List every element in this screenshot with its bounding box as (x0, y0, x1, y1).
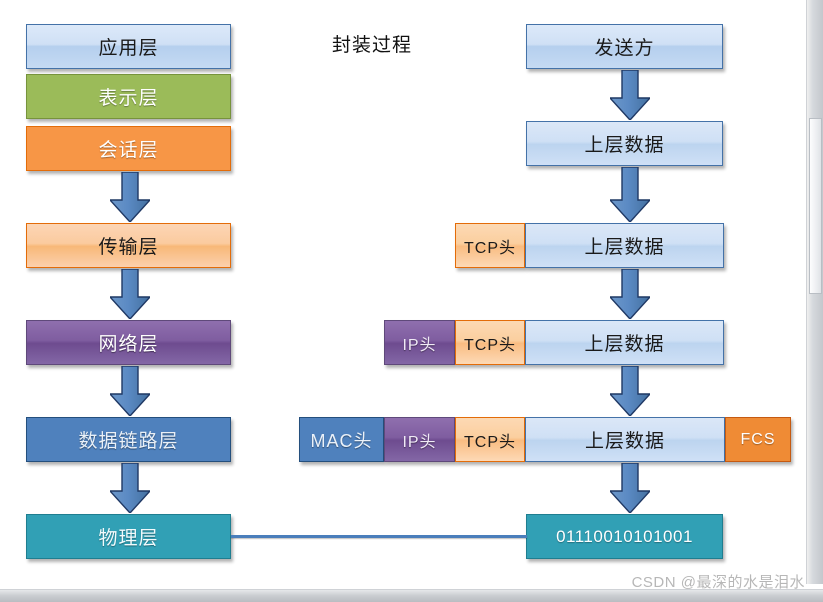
encap-packet-upper-layer-data-label: 上层数据 (584, 329, 664, 356)
encap-segment-upper-layer-data: 上层数据 (525, 223, 724, 268)
encap-packet-tcp-header-label: TCP头 (464, 331, 516, 355)
arrow-transport-to-network-icon (110, 269, 150, 319)
osi-layer-session: 会话层 (26, 126, 231, 171)
osi-layer-session-label: 会话层 (98, 135, 158, 162)
arrow-data-to-segment-icon (610, 167, 650, 222)
arrow-frame-to-bits-icon (610, 463, 650, 513)
osi-layer-data-link: 数据链路层 (26, 417, 231, 462)
encap-frame-ip-header: IP头 (384, 417, 455, 462)
encap-frame-mac-header: MAC头 (299, 417, 384, 462)
osi-layer-application: 应用层 (26, 24, 231, 69)
osi-layer-presentation: 表示层 (26, 74, 231, 119)
encap-segment-tcp-header: TCP头 (455, 223, 525, 268)
encap-upper-layer-data-upper-layer-data-label: 上层数据 (584, 130, 664, 157)
diagram-title: 封装过程 (332, 30, 412, 57)
encap-frame-upper-layer-data-label: 上层数据 (585, 426, 665, 453)
arrow-link-to-physical-icon (110, 463, 150, 513)
arrow-session-to-transport-icon (110, 172, 150, 222)
encap-frame-fcs: FCS (725, 417, 791, 462)
osi-layer-transport: 传输层 (26, 223, 231, 268)
encap-upper-layer-data-upper-layer-data: 上层数据 (526, 121, 723, 166)
encap-frame-tcp-header-label: TCP头 (464, 428, 516, 452)
encap-frame-tcp-header: TCP头 (455, 417, 525, 462)
arrow-sender-to-data-icon (610, 70, 650, 120)
osi-layer-data-link-label: 数据链路层 (78, 426, 178, 453)
physical-medium-line (231, 535, 527, 538)
osi-layer-transport-label: 传输层 (98, 232, 158, 259)
encap-bits-bit-stream: 01110010101001 (526, 514, 723, 559)
encap-bits-bit-stream-label: 01110010101001 (556, 527, 693, 547)
encap-sender-sender: 发送方 (526, 24, 723, 69)
encap-packet-ip-header: IP头 (384, 320, 455, 365)
encap-packet-ip-header-label: IP头 (402, 331, 436, 355)
encap-sender-sender-label: 发送方 (594, 33, 654, 60)
osi-layer-network: 网络层 (26, 320, 231, 365)
arrow-segment-to-packet-icon (610, 269, 650, 319)
diagram-canvas: 封装过程 应用层表示层会话层传输层网络层数据链路层物理层 发送方上层数据TCP头… (0, 0, 823, 602)
encap-frame-upper-layer-data: 上层数据 (525, 417, 725, 462)
encap-frame-ip-header-label: IP头 (402, 428, 436, 452)
vertical-scrollbar[interactable] (806, 0, 823, 584)
encap-packet-upper-layer-data: 上层数据 (525, 320, 724, 365)
encap-segment-upper-layer-data-label: 上层数据 (584, 232, 664, 259)
arrow-packet-to-frame-icon (610, 366, 650, 416)
encap-frame-mac-header-label: MAC头 (311, 427, 373, 453)
encap-segment-tcp-header-label: TCP头 (464, 234, 516, 258)
osi-layer-presentation-label: 表示层 (98, 83, 158, 110)
osi-layer-application-label: 应用层 (98, 33, 158, 60)
osi-layer-physical-label: 物理层 (98, 523, 158, 550)
arrow-network-to-link-icon (110, 366, 150, 416)
osi-layer-physical: 物理层 (26, 514, 231, 559)
encap-packet-tcp-header: TCP头 (455, 320, 525, 365)
horizontal-scrollbar[interactable] (0, 589, 823, 602)
encap-frame-fcs-label: FCS (741, 431, 776, 449)
vertical-scrollbar-thumb[interactable] (809, 118, 822, 294)
osi-layer-network-label: 网络层 (98, 329, 158, 356)
